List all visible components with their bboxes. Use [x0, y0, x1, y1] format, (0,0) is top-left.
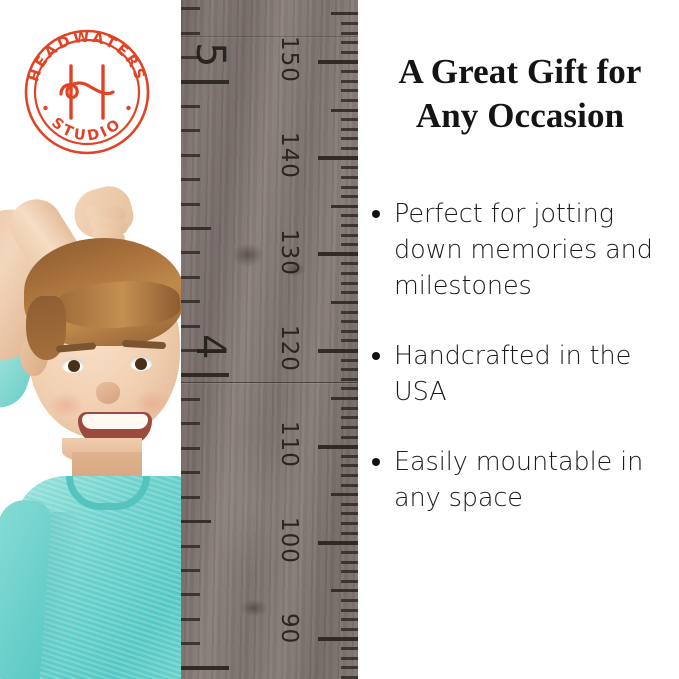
ruler-tick-inch	[181, 642, 200, 645]
ruler-tick-cm	[318, 637, 358, 641]
ruler-tick-cm	[341, 561, 358, 564]
feature-bullet-list: Perfect for jotting down memories and mi…	[366, 196, 676, 550]
ruler-tick-cm	[341, 118, 358, 121]
ruler-tick-inch	[181, 251, 200, 254]
ruler-tick-cm	[341, 426, 358, 429]
ruler-label-cm: 90	[276, 613, 302, 644]
ruler-tick-inch	[181, 80, 229, 84]
ruler-tick-cm	[341, 147, 358, 150]
ruler-tick-cm	[341, 512, 358, 515]
ruler-tick-inch	[181, 32, 200, 35]
nose	[96, 382, 120, 404]
ruler-tick-inch	[181, 178, 200, 181]
ruler-tick-cm	[341, 339, 358, 342]
ruler-tick-cm	[341, 176, 358, 179]
ruler-tick-cm	[341, 320, 358, 323]
ruler-tick-cm	[341, 666, 358, 669]
ruler-tick-cm	[341, 436, 358, 439]
ruler-tick-cm	[318, 156, 358, 160]
pupil-right	[135, 358, 147, 370]
ruler-tick-cm	[341, 407, 358, 410]
ruler-label-cm: 120	[276, 325, 302, 372]
ruler-label-cm: 150	[276, 36, 302, 83]
ruler-tick-cm	[341, 291, 358, 294]
ruler-tick-cm	[341, 224, 358, 227]
ruler-tick-inch	[181, 618, 200, 621]
ruler-tick-inch	[181, 325, 200, 328]
ruler-tick-cm	[341, 464, 358, 467]
ruler-tick-cm	[341, 532, 358, 535]
headline-line-2: Any Occasion	[416, 96, 624, 135]
ruler-tick-cm	[341, 89, 358, 92]
ruler-tick-cm	[341, 311, 358, 314]
ruler-tick-cm	[341, 570, 358, 573]
ruler-tick-cm	[341, 70, 358, 73]
ruler-tick-cm	[341, 618, 358, 621]
ruler-tick-cm	[341, 80, 358, 83]
ruler-tick-cm	[341, 416, 358, 419]
ruler-tick-cm	[341, 272, 358, 275]
ruler-tick-cm	[341, 32, 358, 35]
ruler-tick-inch	[181, 447, 200, 450]
ruler-tick-cm	[331, 109, 358, 112]
ruler-tick-cm	[341, 51, 358, 54]
ruler-tick-cm	[341, 647, 358, 650]
logo-dot	[126, 106, 130, 110]
ruler-label-cm: 140	[276, 132, 302, 179]
ruler-tick-cm	[341, 359, 358, 362]
wooden-growth-chart-ruler: 54 15014013012011010090	[181, 0, 358, 679]
headline-line-1: A Great Gift for	[399, 52, 642, 91]
ruler-tick-cm	[331, 589, 358, 592]
list-item: Handcrafted in the USA	[366, 338, 676, 410]
ruler-tick-inch	[181, 520, 211, 523]
ruler-label-feet: 5	[187, 42, 233, 67]
ruler-label-cm: 110	[276, 421, 302, 468]
ruler-tick-inch	[181, 105, 200, 108]
ruler-tick-inch	[181, 666, 229, 670]
ruler-tick-cm	[341, 195, 358, 198]
plank-seam	[181, 36, 358, 37]
ruler-tick-cm	[331, 397, 358, 400]
plank-seam	[181, 382, 358, 383]
ruler-tick-cm	[318, 541, 358, 545]
list-item: Easily mountable in any space	[366, 444, 676, 516]
ruler-tick-inch	[181, 129, 200, 132]
ruler-tick-inch	[181, 471, 200, 474]
marketing-copy-panel: A Great Gift for Any Occasion Perfect fo…	[358, 0, 679, 679]
ruler-tick-cm	[341, 657, 358, 660]
ruler-tick-cm	[341, 609, 358, 612]
ruler-tick-inch	[181, 593, 200, 596]
ruler-tick-cm	[318, 445, 358, 449]
ruler-tick-cm	[341, 387, 358, 390]
ruler-tick-cm	[341, 186, 358, 189]
ruler-tick-cm	[341, 41, 358, 44]
ruler-tick-cm	[341, 628, 358, 631]
logo-dot	[43, 106, 47, 110]
ruler-tick-cm	[341, 378, 358, 381]
ruler-tick-inch	[181, 154, 200, 157]
ruler-tick-cm	[341, 330, 358, 333]
teeth	[82, 414, 148, 429]
ruler-tick-cm	[331, 493, 358, 496]
ruler-tick-cm	[341, 99, 358, 102]
headwaters-studio-stamp-icon: HEADWATERS STUDIO	[17, 22, 157, 162]
list-item: Perfect for jotting down memories and mi…	[366, 196, 676, 304]
logo-bottom-arc-text: STUDIO	[48, 115, 126, 145]
ruler-tick-cm	[341, 599, 358, 602]
ruler-tick-cm	[341, 474, 358, 477]
ruler-tick-cm	[341, 128, 358, 131]
ruler-tick-cm	[341, 234, 358, 237]
ruler-tick-inch	[181, 398, 200, 401]
bullet-text: Handcrafted in the USA	[394, 341, 631, 407]
ruler-tick-cm	[341, 262, 358, 265]
pupil-left	[68, 360, 80, 372]
bullet-text: Perfect for jotting down memories and mi…	[394, 199, 653, 301]
ruler-tick-inch	[181, 496, 200, 499]
cheek-left	[48, 392, 84, 418]
ruler-tick-cm	[331, 205, 358, 208]
ruler-tick-cm	[318, 252, 358, 256]
ruler-tick-inch	[181, 300, 200, 303]
ruler-tick-cm	[341, 551, 358, 554]
logo-top-arc-text: HEADWATERS	[26, 29, 148, 83]
ruler-label-cm: 100	[276, 517, 302, 564]
wood-knot	[241, 600, 267, 616]
ruler-tick-cm	[331, 12, 358, 15]
ruler-tick-cm	[341, 522, 358, 525]
ruler-tick-inch	[181, 569, 200, 572]
ruler-tick-inch	[181, 373, 229, 377]
ruler-tick-inch	[181, 7, 200, 10]
ruler-tick-inch	[181, 203, 200, 206]
brand-logo: HEADWATERS STUDIO	[17, 22, 157, 162]
ruler-tick-inch	[181, 545, 200, 548]
ruler-tick-inch	[181, 227, 211, 230]
product-feature-card: 54 15014013012011010090 A Great Gift for…	[0, 0, 679, 679]
ruler-tick-cm	[341, 137, 358, 140]
ruler-label-feet: 4	[187, 334, 233, 359]
ruler-label-cm: 130	[276, 229, 302, 276]
ruler-tick-inch	[181, 422, 200, 425]
ruler-tick-cm	[318, 349, 358, 353]
ruler-tick-cm	[341, 580, 358, 583]
logo-monogram-h	[61, 66, 113, 118]
page-title: A Great Gift for Any Occasion	[371, 50, 669, 138]
ruler-tick-cm	[341, 243, 358, 246]
bullet-text: Easily mountable in any space	[394, 447, 643, 513]
ruler-tick-cm	[341, 22, 358, 25]
ruler-tick-cm	[341, 503, 358, 506]
ruler-tick-inch	[181, 276, 200, 279]
ruler-tick-cm	[331, 301, 358, 304]
ruler-tick-cm	[341, 282, 358, 285]
ruler-tick-cm	[318, 60, 358, 64]
ruler-tick-cm	[341, 455, 358, 458]
ruler-tick-cm	[341, 214, 358, 217]
ruler-tick-cm	[341, 368, 358, 371]
wood-knot	[233, 244, 263, 266]
ruler-tick-cm	[341, 166, 358, 169]
ruler-tick-cm	[341, 484, 358, 487]
